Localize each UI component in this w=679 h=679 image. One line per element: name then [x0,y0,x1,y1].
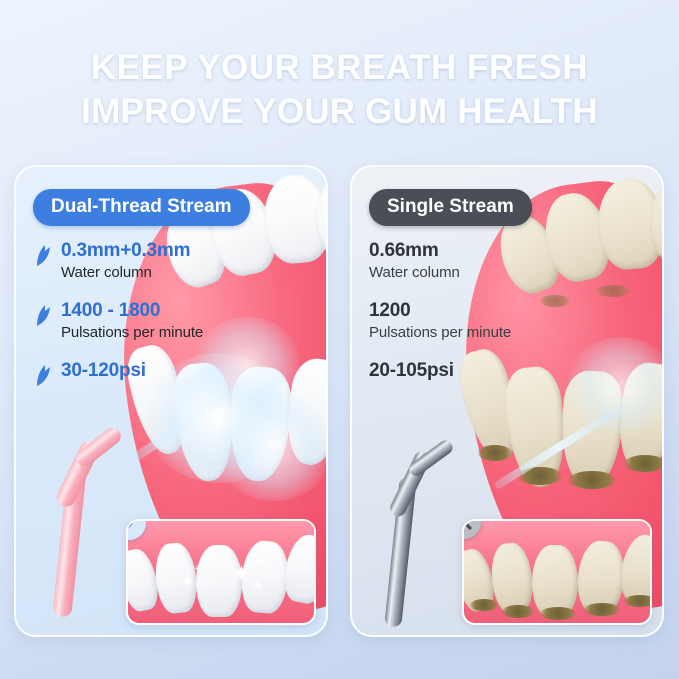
plaque-deposit [624,595,652,607]
close-icon [462,519,475,533]
plaque-deposit [568,471,616,489]
up-arrow-icon [33,363,53,387]
spec-item: 0.66mm Water column [369,239,619,282]
badge-dual-thread: Dual-Thread Stream [33,189,250,226]
spec-value: 30-120psi [61,359,283,383]
plaque-deposit [584,603,620,616]
spec-value: 1200 [369,299,619,323]
spec-list-dual: 0.3mm+0.3mm Water column 1400 - 1800 Pul… [33,239,283,400]
sparkle-icon: ✦ [180,573,194,590]
panel-single-stream: Single Stream 0.66mm Water column 1200 P… [350,165,664,637]
spec-item: 20-105psi [369,359,619,383]
plaque-deposit [540,607,576,620]
water-spray [214,391,328,501]
up-arrow-icon [33,303,53,327]
up-arrow-icon [33,243,53,267]
plaque-deposit [624,455,664,472]
spec-label: Pulsations per minute [61,323,283,342]
comparison-panels: Dual-Thread Stream 0.3mm+0.3mm Water col… [14,165,665,637]
headline-line-2: IMPROVE YOUR GUM HEALTH [0,90,679,134]
spec-label: Water column [369,263,619,282]
spec-value: 20-105psi [369,359,619,383]
spec-item: 0.3mm+0.3mm Water column [33,239,283,282]
plaque-deposit [478,445,512,461]
spec-label: Water column [61,263,283,282]
result-inset-clean: ✦ ✦ ✦ ✦ ✦ [126,519,316,625]
spec-item: 1400 - 1800 Pulsations per minute [33,299,283,342]
panel-dual-thread: Dual-Thread Stream 0.3mm+0.3mm Water col… [14,165,328,637]
spec-label: Pulsations per minute [369,323,619,342]
spec-item: 30-120psi [33,359,283,383]
spec-item: 1200 Pulsations per minute [369,299,619,342]
result-inset-plaque [462,519,652,625]
headline-line-1: KEEP YOUR BREATH FRESH [0,46,679,90]
plaque-deposit [502,605,534,618]
plaque-deposit [470,599,498,611]
spec-value: 0.3mm+0.3mm [61,239,283,263]
spec-list-single: 0.66mm Water column 1200 Pulsations per … [369,239,619,400]
sparkle-icon: ✦ [252,579,265,594]
spec-value: 1400 - 1800 [61,299,283,323]
check-icon [126,519,140,534]
sparkle-icon: ✦ [254,557,263,568]
sparkle-icon: ✦ [194,565,202,575]
sparkle-icon: ✦ [232,563,250,585]
spec-value: 0.66mm [369,239,619,263]
badge-single-stream: Single Stream [369,189,532,226]
page-headline: KEEP YOUR BREATH FRESH IMPROVE YOUR GUM … [0,46,679,134]
